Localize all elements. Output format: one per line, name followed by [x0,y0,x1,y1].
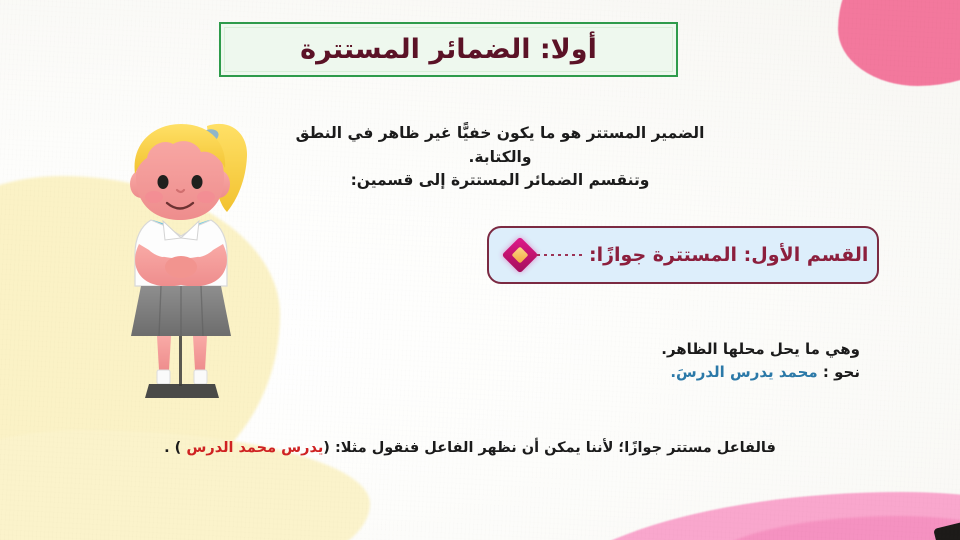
example-prefix: نحو : [818,363,860,381]
section-callout-label: القسم الأول: المستترة جوازًا: [589,244,868,266]
intro-paragraph: الضمير المستتر هو ما يكون خفيًّا غير ظاه… [290,122,710,193]
right-sock [194,370,207,384]
diamond-icon [502,237,539,274]
hands [165,256,197,278]
right-eye [192,175,203,189]
right-blush [197,191,215,203]
collar-left [163,221,181,240]
bottom-explanation: فالفاعل مستتر جوازًا؛ لأننا يمكن أن نظهر… [110,438,830,458]
intro-line-1: الضمير المستتر هو ما يكون خفيًّا غير ظاه… [290,122,710,169]
bottom-text-part2: ) . [164,440,186,456]
stand-post [179,336,182,386]
collar-right [181,221,199,240]
dotted-line-icon [537,254,583,256]
example-sentence: محمد يدرس الدرسَ. [670,363,817,381]
page-title: أولا: الضمائر المستترة [300,36,597,63]
bottom-highlight: يدرس محمد الدرس [186,440,323,456]
left-eye [158,175,169,189]
left-leg [157,336,171,370]
right-leg [193,336,207,370]
bottom-text-part1: فالفاعل مستتر جوازًا؛ لأننا يمكن أن نظهر… [323,440,776,456]
intro-line-2: وتنقسم الضمائر المستترة إلى قسمين: [290,169,710,193]
pink-blob-top-right-decoration [838,0,960,86]
definition-line: وهي ما يحل محلها الظاهر. [560,338,860,361]
shoes-base [145,384,219,398]
section-body-text: وهي ما يحل محلها الظاهر. نحو : محمد يدرس… [560,338,860,385]
left-blush [145,191,163,203]
example-line: نحو : محمد يدرس الدرسَ. [560,361,860,384]
page-title-box: أولا: الضمائر المستترة [219,22,678,77]
slide-canvas: أولا: الضمائر المستترة الضمير المستتر هو… [0,0,960,540]
section-callout-box[interactable]: القسم الأول: المستترة جوازًا: [487,226,879,284]
schoolgirl-illustration [105,108,280,408]
left-sock [157,370,170,384]
